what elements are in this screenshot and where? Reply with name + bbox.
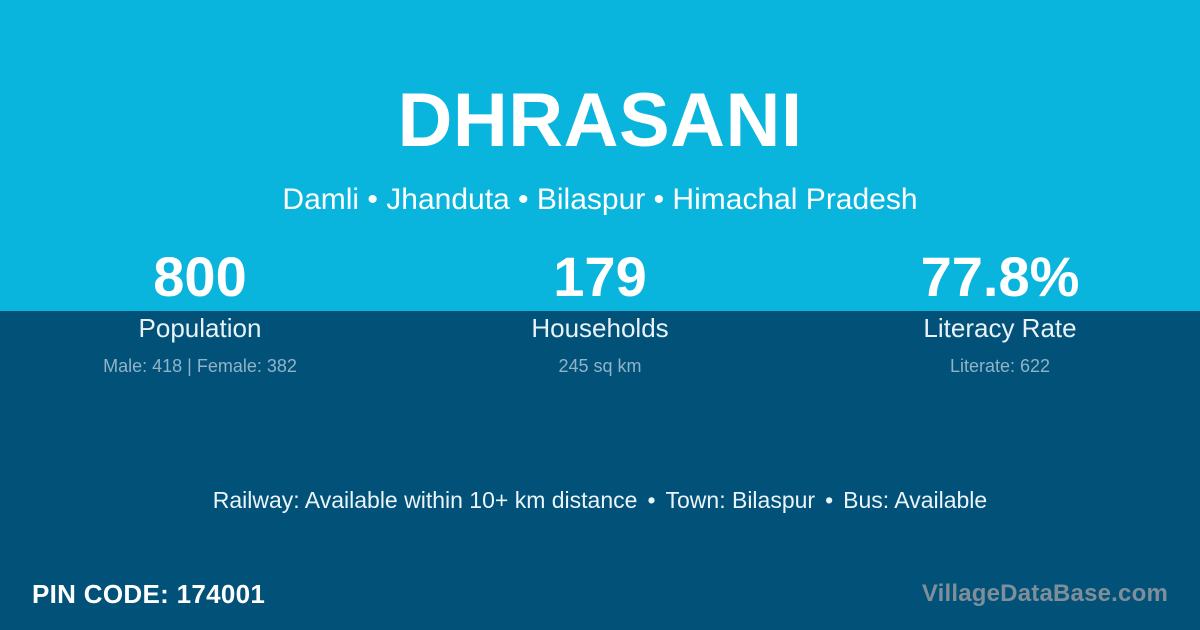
amenities-info-row: Railway: Available within 10+ km distanc… [0, 486, 1200, 514]
stat-value: 179 [400, 246, 800, 308]
stat-sub: 245 sq km [400, 354, 800, 378]
stat-value: 800 [0, 246, 400, 308]
info-separator: • [815, 487, 843, 513]
stat-label: Literacy Rate [800, 312, 1200, 344]
railway-info: Railway: Available within 10+ km distanc… [213, 487, 638, 513]
stat-label: Households [400, 312, 800, 344]
pin-code: PIN CODE: 174001 [32, 579, 265, 610]
stat-sub: Male: 418 | Female: 382 [0, 354, 400, 378]
stat-value: 77.8% [800, 246, 1200, 308]
stat-label: Population [0, 312, 400, 344]
footer: PIN CODE: 174001 VillageDataBase.com [0, 558, 1200, 630]
stat-households: 179 Households 245 sq km [400, 246, 800, 378]
stat-population: 800 Population Male: 418 | Female: 382 [0, 246, 400, 378]
location-breadcrumb: Damli • Jhanduta • Bilaspur • Himachal P… [0, 182, 1200, 218]
info-separator: • [637, 487, 665, 513]
town-info: Town: Bilaspur [666, 487, 816, 513]
brand-watermark: VillageDataBase.com [922, 580, 1168, 608]
stats-row: 800 Population Male: 418 | Female: 382 1… [0, 246, 1200, 378]
stat-sub: Literate: 622 [800, 354, 1200, 378]
stat-literacy-rate: 77.8% Literacy Rate Literate: 622 [800, 246, 1200, 378]
village-info-card: DHRASANI Damli • Jhanduta • Bilaspur • H… [0, 0, 1200, 630]
page-title: DHRASANI [0, 83, 1200, 159]
bus-info: Bus: Available [843, 487, 987, 513]
